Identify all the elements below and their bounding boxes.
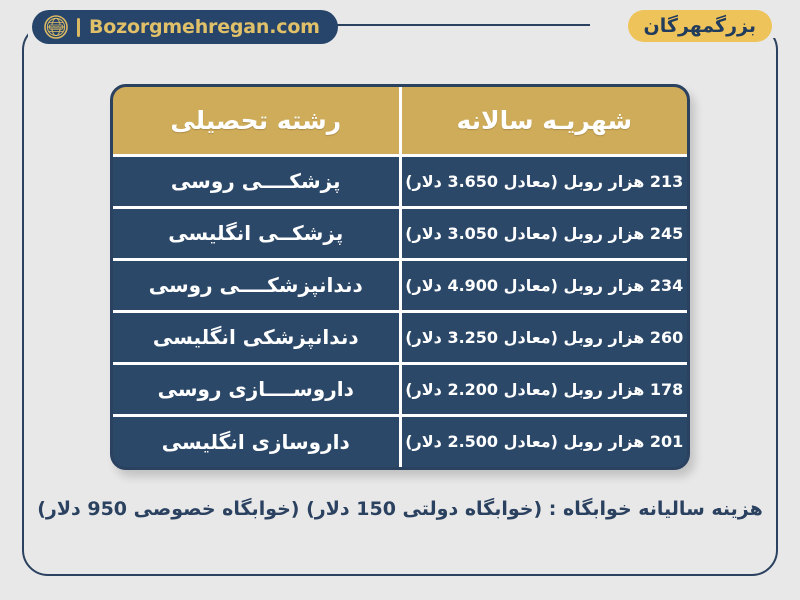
- cell-annual-fee: 234 هزار روبل (معادل 4.900 دلار): [400, 259, 687, 311]
- globe-www-icon: WWW: [44, 15, 68, 39]
- table-row: 260 هزار روبل (معادل 3.250 دلار)دندانپزش…: [113, 311, 687, 363]
- table-body: 213 هزار روبل (معادل 3.650 دلار)پزشکــــ…: [113, 155, 687, 467]
- dormitory-cost-caption: هزینه سالیانه خوابگاه : (خوابگاه دولتی 1…: [0, 498, 800, 520]
- svg-text:WWW: WWW: [50, 25, 62, 29]
- cell-field-of-study: داروسازی انگلیسی: [113, 415, 400, 467]
- tuition-table-card: شهریـه سالانه رشته تحصیلی 213 هزار روبل …: [110, 84, 690, 470]
- table-row: 178 هزار روبل (معادل 2.200 دلار)داروســـ…: [113, 363, 687, 415]
- brand-pill-label: بزرگمهرگان: [644, 17, 756, 36]
- table-header-row: شهریـه سالانه رشته تحصیلی: [113, 87, 687, 155]
- table-row: 245 هزار روبل (معادل 3.050 دلار)پزشکــی …: [113, 207, 687, 259]
- table-row: 234 هزار روبل (معادل 4.900 دلار)دندانپزش…: [113, 259, 687, 311]
- cell-field-of-study: پزشکــی انگلیسی: [113, 207, 400, 259]
- tuition-table: شهریـه سالانه رشته تحصیلی 213 هزار روبل …: [113, 87, 687, 467]
- cell-field-of-study: داروســــازی روسی: [113, 363, 400, 415]
- column-header-major: رشته تحصیلی: [113, 87, 400, 155]
- cell-annual-fee: 260 هزار روبل (معادل 3.250 دلار): [400, 311, 687, 363]
- table-row: 201 هزار روبل (معادل 2.500 دلار)داروسازی…: [113, 415, 687, 467]
- cell-annual-fee: 201 هزار روبل (معادل 2.500 دلار): [400, 415, 687, 467]
- cell-annual-fee: 178 هزار روبل (معادل 2.200 دلار): [400, 363, 687, 415]
- cell-field-of-study: دندانپزشکــــی روسی: [113, 259, 400, 311]
- cell-annual-fee: 245 هزار روبل (معادل 3.050 دلار): [400, 207, 687, 259]
- badge-separator: [77, 18, 80, 37]
- table-row: 213 هزار روبل (معادل 3.650 دلار)پزشکــــ…: [113, 155, 687, 207]
- cell-field-of-study: دندانپزشکی انگلیسی: [113, 311, 400, 363]
- site-badge-label: Bozorgmehregan.com: [89, 16, 320, 38]
- table-header: شهریـه سالانه رشته تحصیلی: [113, 87, 687, 155]
- brand-pill[interactable]: بزرگمهرگان: [628, 10, 772, 42]
- cell-annual-fee: 213 هزار روبل (معادل 3.650 دلار): [400, 155, 687, 207]
- site-badge[interactable]: WWW Bozorgmehregan.com: [32, 10, 338, 44]
- cell-field-of-study: پزشکــــی روسی: [113, 155, 400, 207]
- column-header-fee: شهریـه سالانه: [400, 87, 687, 155]
